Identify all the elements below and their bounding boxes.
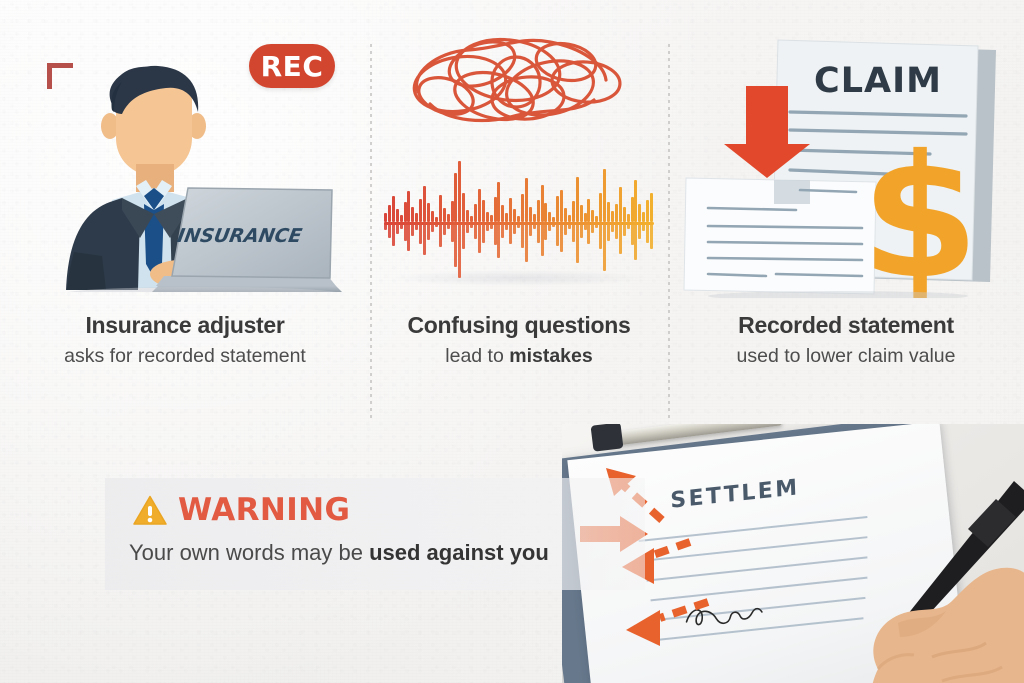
- adjuster-artwork: REC: [0, 0, 370, 300]
- caption-claim-sub: used to lower claim value: [668, 345, 1024, 368]
- waveform-bar: [521, 194, 524, 222]
- svg-text:$: $: [861, 119, 979, 298]
- caption-claim-title: Recorded statement: [668, 312, 1024, 338]
- waveform-bar: [415, 222, 418, 230]
- waveform-bar: [494, 222, 497, 245]
- waveform-bar: [478, 189, 481, 223]
- waveform-bar: [587, 199, 590, 222]
- waveform-bar: [494, 197, 497, 222]
- waveform-bar: [591, 222, 594, 233]
- waveform-bar: [431, 211, 434, 222]
- waveform-bar: [474, 204, 477, 222]
- waveform-bar: [552, 222, 555, 227]
- waveform-bar: [556, 222, 559, 246]
- waveform-bar: [521, 222, 524, 248]
- claim-document-title: CLAIM: [814, 61, 942, 101]
- waveform-bar: [497, 222, 500, 258]
- waveform-bar: [486, 212, 489, 222]
- waveform-bar: [533, 214, 536, 222]
- waveform-bar: [560, 222, 563, 252]
- waveform-bar: [603, 169, 606, 222]
- waveform-bar: [599, 222, 602, 249]
- waveform-bar: [451, 201, 454, 222]
- warning-message-emphasis: used against you: [369, 540, 549, 565]
- waveform-bar: [525, 178, 528, 222]
- warning-message-prefix: Your own words may be: [129, 540, 369, 565]
- waveform-bar: [529, 207, 532, 222]
- waveform-bar: [505, 213, 508, 222]
- waveform-bar: [517, 222, 520, 228]
- waveform-bar: [435, 222, 438, 227]
- waveform-bar: [466, 210, 469, 222]
- waveform-bar: [509, 198, 512, 222]
- waveform-bar: [482, 200, 485, 222]
- waveform-bar: [458, 161, 461, 222]
- waveform-bar: [572, 201, 575, 222]
- waveform-bar: [411, 222, 414, 236]
- caption-questions-sub: lead to mistakes: [370, 345, 668, 368]
- waveform-bar: [400, 215, 403, 222]
- waveform-bar: [513, 222, 516, 234]
- waveform-bar: [631, 197, 634, 222]
- waveform-bar: [544, 222, 547, 240]
- waveform-bar: [634, 180, 637, 222]
- waveform-bar: [466, 222, 469, 233]
- waveform-bar: [642, 212, 645, 222]
- panel-recorded-statement: CLAIM: [668, 0, 1024, 420]
- waveform-bar: [490, 222, 493, 229]
- waveform-bar: [443, 208, 446, 222]
- panel-confusing-questions: Confusing questions lead to mistakes: [370, 0, 668, 420]
- waveform-bar: [404, 222, 407, 241]
- waveform-bar: [544, 203, 547, 222]
- panel-insurance-adjuster: REC: [0, 0, 370, 420]
- waveform-bar: [458, 222, 461, 278]
- waveform-bar: [638, 204, 641, 222]
- waveform-bar: [607, 222, 610, 241]
- caption-questions-title: Confusing questions: [370, 312, 668, 338]
- waveform-bar: [587, 222, 590, 243]
- waveform-bar: [529, 222, 532, 236]
- waveform-bar: [603, 222, 606, 271]
- waveform-bar: [384, 222, 387, 230]
- waveform-bar: [537, 222, 540, 243]
- caption-adjuster-title: Insurance adjuster: [0, 312, 370, 338]
- waveform-bar: [388, 222, 391, 238]
- waveform-bar: [568, 215, 571, 222]
- waveform-bar: [541, 222, 544, 256]
- waveform-bar: [619, 187, 622, 222]
- waveform-bar: [627, 222, 630, 229]
- waveform-bar: [548, 212, 551, 222]
- waveform-bar: [482, 222, 485, 243]
- waveform-bar: [607, 202, 610, 222]
- waveform-bar: [646, 222, 649, 243]
- waveform-bar: [611, 211, 614, 222]
- waveform-bar: [584, 222, 587, 230]
- waveform-bar: [447, 214, 450, 222]
- waveform-bar: [423, 186, 426, 222]
- waveform-bar: [646, 200, 649, 222]
- waveform-bar: [576, 222, 579, 263]
- waveform-bar: [427, 222, 430, 240]
- waveform-bar: [513, 209, 516, 222]
- caption-questions-emphasis: mistakes: [509, 345, 592, 367]
- waveform-bar: [443, 222, 446, 235]
- waveform-bar: [478, 222, 481, 253]
- adjuster-figure-icon: INSURANCE: [52, 52, 342, 292]
- caption-questions: Confusing questions lead to mistakes: [370, 312, 668, 369]
- waveform-bar: [486, 222, 489, 231]
- waveform-bar: [427, 203, 430, 222]
- questions-artwork: [370, 0, 668, 300]
- waveform-bar: [423, 222, 426, 255]
- waveform-bar: [407, 191, 410, 222]
- waveform-bar: [556, 196, 559, 222]
- waveform-bar: [454, 222, 457, 267]
- waveform-bar: [419, 199, 422, 222]
- waveform-bar: [525, 222, 528, 262]
- waveform-bar: [497, 182, 500, 222]
- waveform-bar: [627, 214, 630, 222]
- waveform-bar: [505, 222, 508, 230]
- hand-with-pen-icon: [782, 473, 1024, 683]
- waveform-bar: [650, 193, 653, 222]
- waveform-bar: [564, 208, 567, 222]
- waveform-bar: [396, 209, 399, 222]
- waveform-bar: [615, 204, 618, 222]
- caption-adjuster-sub: asks for recorded statement: [0, 345, 370, 368]
- waveform-bar: [634, 222, 637, 260]
- caption-claim: Recorded statement used to lower claim v…: [668, 312, 1024, 369]
- waveform-bar: [548, 222, 551, 231]
- waveform-bar: [462, 193, 465, 222]
- waveform-bar: [400, 222, 403, 229]
- waveform-bar: [580, 205, 583, 222]
- waveform-bar: [407, 222, 410, 251]
- waveform-bar: [470, 222, 473, 228]
- waveform-bar: [642, 222, 645, 231]
- waveform-bar: [451, 222, 454, 242]
- waveform-bar: [384, 213, 387, 222]
- waveform-bar: [501, 205, 504, 222]
- dashed-arrow-icon-3: [626, 602, 708, 646]
- waveform-bar: [392, 196, 395, 222]
- waveform-bar: [638, 222, 641, 239]
- laptop-label: INSURANCE: [176, 224, 304, 247]
- dollar-sign-icon: $: [861, 119, 979, 298]
- warning-message: Your own words may be used against you: [105, 540, 645, 566]
- warning-header: WARNING: [105, 492, 645, 528]
- waveform-bar: [419, 222, 422, 243]
- waveform-bar: [439, 222, 442, 247]
- infographic-canvas: REC: [0, 0, 1024, 683]
- waveform-bar: [392, 222, 395, 246]
- waveform-bar: [541, 185, 544, 222]
- waveform-bar: [415, 213, 418, 222]
- waveform-bar: [599, 193, 602, 222]
- waveform-bar: [431, 222, 434, 232]
- claim-document-icon: CLAIM: [678, 30, 1014, 298]
- waveform-bar: [454, 173, 457, 222]
- waveform-bar: [591, 210, 594, 222]
- waveform-bar: [584, 213, 587, 222]
- waveform-bar: [411, 207, 414, 222]
- waveform-bar: [474, 222, 477, 239]
- waveform-shadow: [392, 270, 646, 286]
- waveform-bar: [650, 222, 653, 249]
- waveform-bar: [611, 222, 614, 232]
- waveform-bar: [447, 222, 450, 229]
- waveform-bar: [439, 195, 442, 222]
- waveform-bar: [615, 222, 618, 239]
- tangled-scribble-icon: [390, 12, 650, 142]
- waveform-bar: [509, 222, 512, 244]
- warning-title: WARNING: [178, 492, 350, 528]
- caption-questions-prefix: lead to: [445, 345, 509, 367]
- waveform-bar: [490, 215, 493, 222]
- waveform-bar: [619, 222, 622, 254]
- waveform-bar: [572, 222, 575, 242]
- waveform-bar: [623, 207, 626, 222]
- waveform-bar: [631, 222, 634, 245]
- waveform-bar: [537, 200, 540, 222]
- waveform-bar: [388, 205, 391, 222]
- waveform-bar: [501, 222, 504, 238]
- waveform-bar: [568, 222, 571, 229]
- waveform-bar: [560, 190, 563, 222]
- waveform-bar: [564, 222, 567, 235]
- waveform-bar: [576, 177, 579, 222]
- waveform-bar: [396, 222, 399, 234]
- waveform-bar: [462, 222, 465, 249]
- waveform-bar: [533, 222, 536, 229]
- caption-adjuster: Insurance adjuster asks for recorded sta…: [0, 312, 370, 369]
- waveform-bar: [595, 222, 598, 228]
- waveform-bar: [623, 222, 626, 236]
- waveform-bar: [404, 202, 407, 222]
- warning-banner: WARNING Your own words may be used again…: [105, 478, 645, 590]
- warning-triangle-icon: [133, 495, 167, 526]
- waveform-bar: [580, 222, 583, 238]
- audio-waveform-chart: [378, 150, 660, 290]
- claim-artwork: CLAIM: [668, 0, 1024, 300]
